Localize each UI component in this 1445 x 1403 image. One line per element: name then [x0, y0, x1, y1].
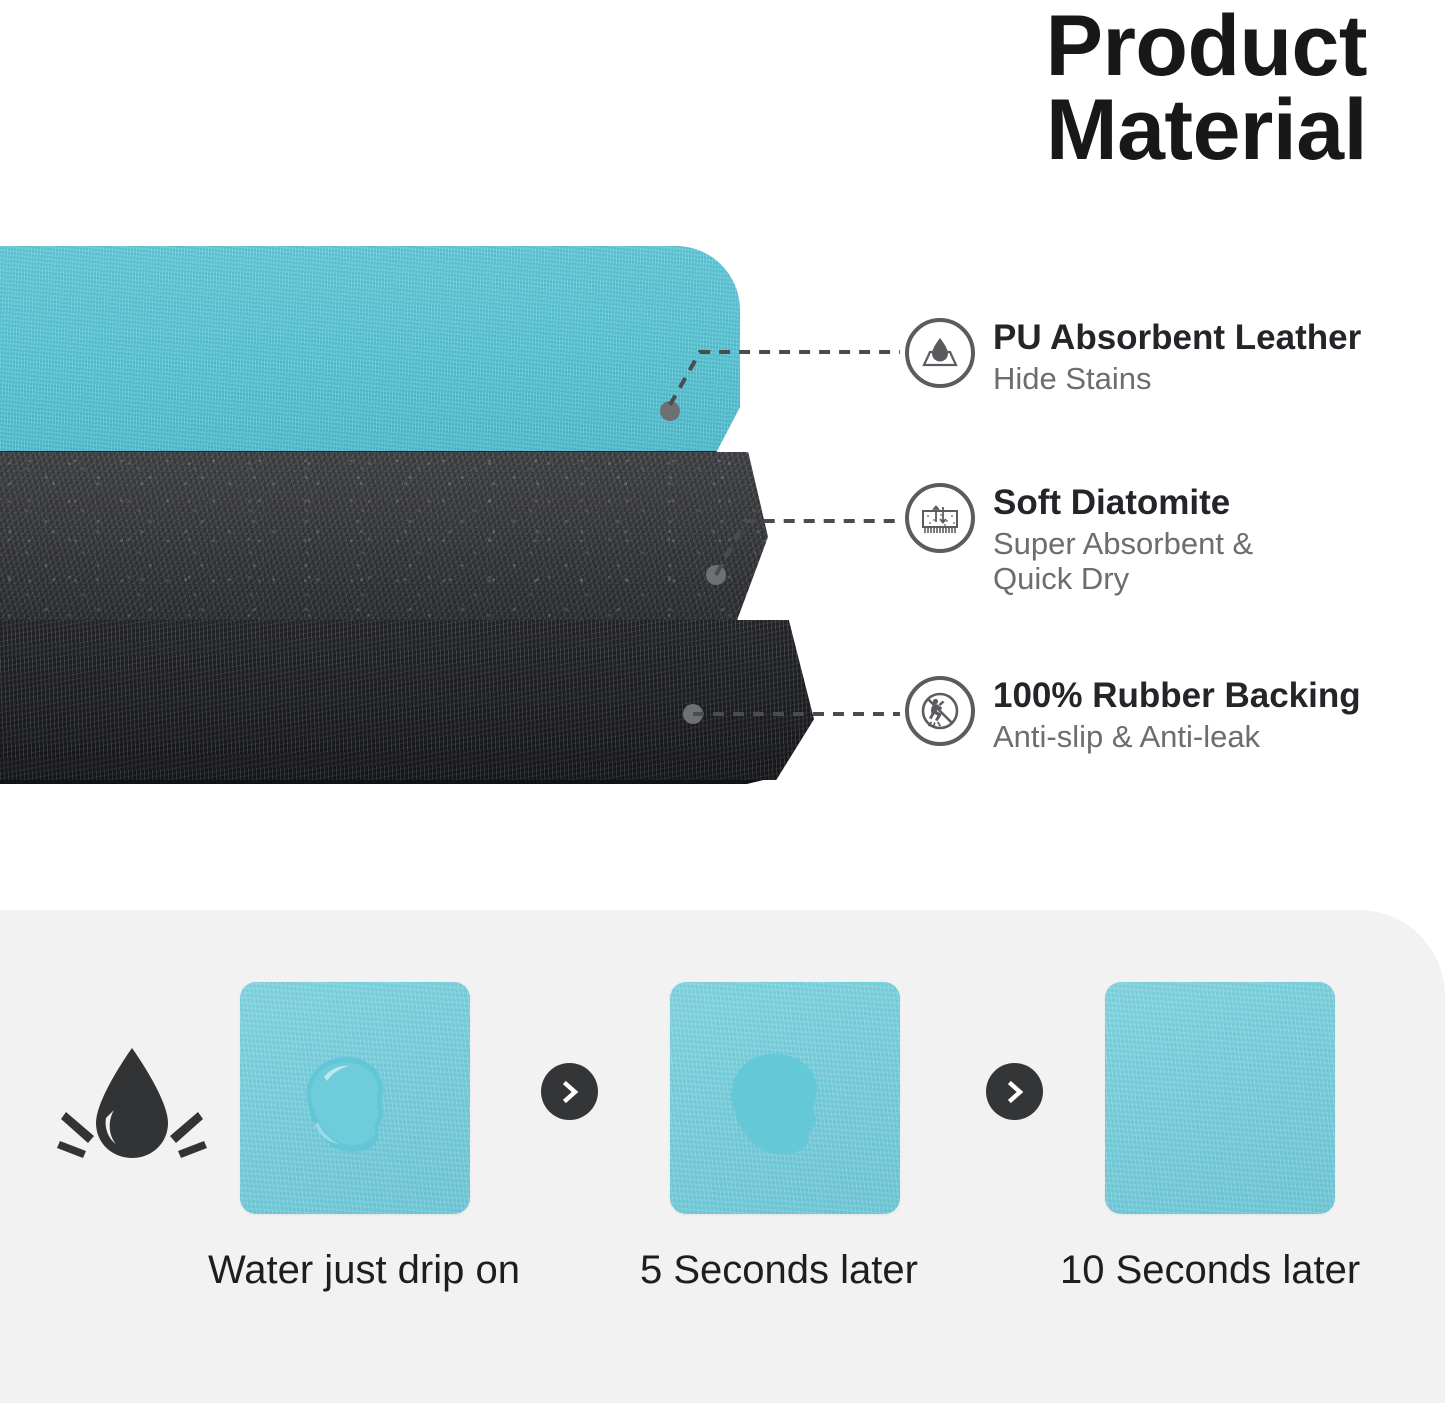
rubber-backing-layer [0, 620, 814, 780]
callout-diatomite-text: Soft Diatomite Super Absorbent & Quick D… [993, 483, 1253, 596]
callout-pu-title: PU Absorbent Leather [993, 320, 1361, 357]
marker-dot-rubber [683, 704, 703, 724]
marker-dot-pu [660, 401, 680, 421]
title-line-2: Material [1046, 88, 1367, 172]
water-splash-icon [48, 1040, 216, 1190]
water-patch-absorbing [670, 982, 900, 1214]
demo-tile-5-seconds [670, 982, 900, 1214]
demo-tile-water-drip [240, 982, 470, 1214]
pu-layer-surface [0, 246, 740, 458]
infographic-stage: Product Material [0, 0, 1445, 1403]
no-slipping-icon [905, 676, 975, 746]
absorbent-block-arrows-icon [905, 483, 975, 553]
callout-rubber-backing: 100% Rubber Backing Anti-slip & Anti-lea… [905, 676, 1361, 754]
callout-rubber-text: 100% Rubber Backing Anti-slip & Anti-lea… [993, 676, 1361, 754]
demo-caption-1: Water just drip on [208, 1248, 520, 1293]
pu-leather-layer [0, 246, 740, 458]
demo-caption-3: 10 Seconds later [1060, 1248, 1360, 1293]
mat-layer-stack [0, 238, 860, 768]
callout-diatomite: Soft Diatomite Super Absorbent & Quick D… [905, 483, 1253, 596]
rubber-layer-surface [0, 620, 814, 780]
title-line-1: Product [1046, 0, 1367, 94]
callout-rubber-subtitle: Anti-slip & Anti-leak [993, 719, 1361, 754]
water-puddle-beaded [240, 982, 470, 1214]
callout-diatomite-title: Soft Diatomite [993, 485, 1253, 522]
callout-pu-subtitle: Hide Stains [993, 361, 1361, 396]
callout-pu-text: PU Absorbent Leather Hide Stains [993, 318, 1361, 396]
page-title: Product Material [1046, 4, 1367, 173]
demo-caption-2: 5 Seconds later [640, 1248, 918, 1293]
water-drop-on-mat-icon [905, 318, 975, 388]
callout-pu-leather: PU Absorbent Leather Hide Stains [905, 318, 1361, 396]
callout-diatomite-subtitle: Super Absorbent & Quick Dry [993, 526, 1253, 596]
chevron-right-icon-2 [986, 1063, 1043, 1120]
demo-tile-10-seconds [1105, 982, 1335, 1214]
diatomite-layer-surface [0, 452, 768, 622]
chevron-right-icon-1 [541, 1063, 598, 1120]
callout-diatomite-subtitle-line1: Super Absorbent & [993, 526, 1253, 561]
marker-dot-diatomite [706, 565, 726, 585]
callout-diatomite-subtitle-line2: Quick Dry [993, 561, 1253, 596]
callout-rubber-title: 100% Rubber Backing [993, 678, 1361, 715]
diatomite-layer [0, 452, 768, 622]
